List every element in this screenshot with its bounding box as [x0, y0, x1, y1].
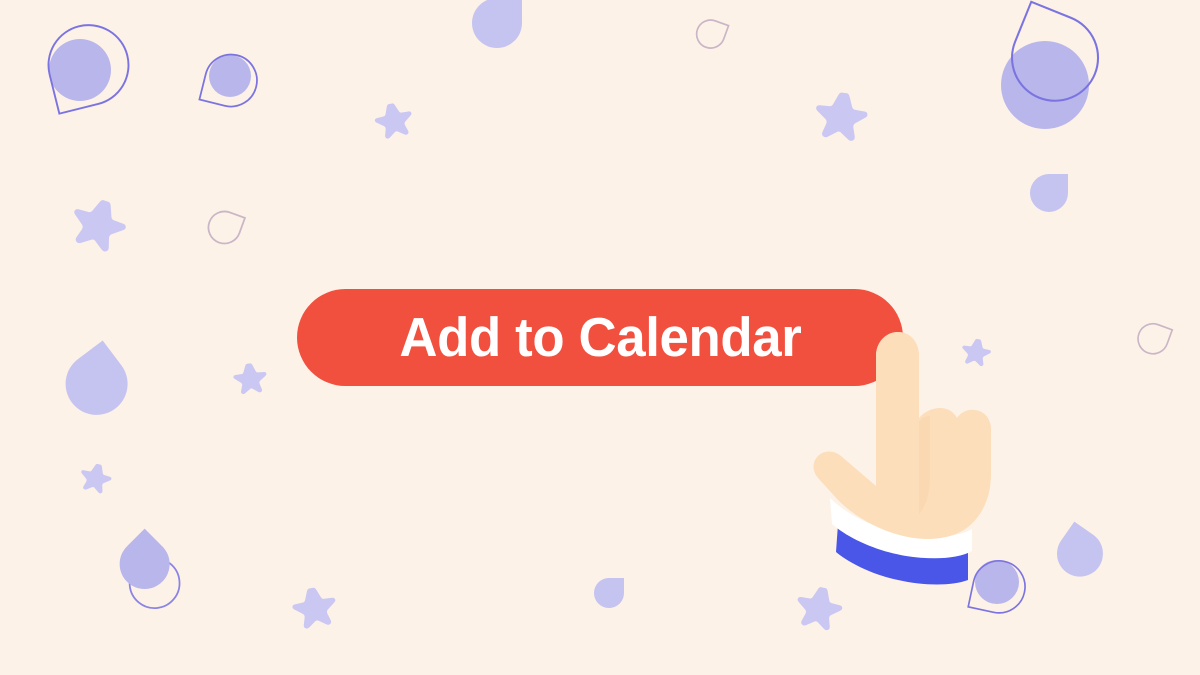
hand-cuff	[830, 498, 972, 558]
decor-star-upper-mid	[372, 100, 415, 141]
add-to-calendar-button[interactable]: Add to Calendar	[297, 289, 903, 386]
decor-star-right-mid	[960, 337, 993, 368]
decor-droplet-left-big	[53, 340, 140, 427]
add-to-calendar-label: Add to Calendar	[399, 310, 801, 365]
decor-droplet-outline-top	[693, 16, 729, 52]
decor-droplet-bottom-far-right	[1048, 522, 1112, 586]
decor-cluster-bottom-right	[968, 556, 1030, 618]
illustration-canvas: Add to Calendar	[0, 0, 1200, 675]
decor-droplet-outline-right	[1134, 320, 1172, 358]
hand-shading	[919, 416, 930, 514]
decor-droplet-top-mid	[472, 0, 522, 48]
decor-cluster-upper-left	[199, 49, 262, 112]
decor-cluster-bottom-left	[109, 529, 182, 611]
decor-cluster-top-left	[40, 17, 137, 114]
decor-star-left-low	[232, 362, 268, 395]
hand-sleeve	[836, 524, 968, 585]
decor-droplet-outline-left	[204, 207, 245, 248]
decor-star-left	[65, 193, 131, 256]
decor-droplet-bottom-mid	[594, 578, 624, 608]
decor-star-upper-right	[812, 89, 870, 142]
decor-droplet-right-mid	[1030, 174, 1068, 212]
decor-star-bottom-left	[290, 584, 340, 630]
decor-cluster-top-right	[999, 2, 1111, 129]
decor-star-bottom-right	[793, 583, 846, 633]
decor-star-left-lower	[77, 461, 114, 496]
